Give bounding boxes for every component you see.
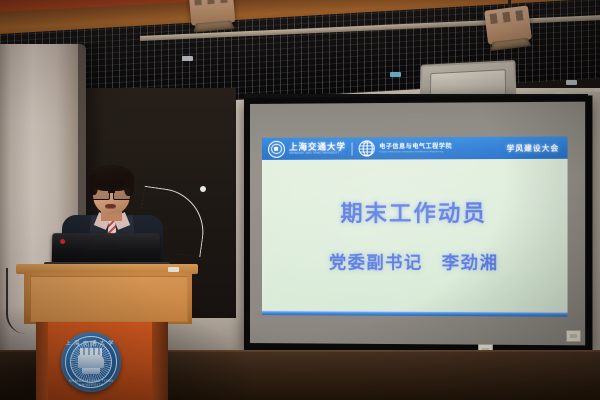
ceiling-speaker-left bbox=[189, 0, 236, 26]
lecture-hall-photo: 上海交通大学 SHANGHAI JIAO TONG UNIVERSITY 电子信… bbox=[0, 0, 600, 400]
school-name-cn: 电子信息与电气工程学院 bbox=[379, 144, 452, 150]
slide-header-bar: 上海交通大学 SHANGHAI JIAO TONG UNIVERSITY 电子信… bbox=[262, 136, 568, 160]
slide-footer-bar bbox=[262, 311, 568, 317]
speaker-slots bbox=[194, 0, 229, 5]
school-name-en: School of Electronic Information and Ele… bbox=[379, 151, 452, 153]
podium-control-switch[interactable] bbox=[168, 267, 179, 272]
podium-front-panel bbox=[30, 276, 188, 322]
presenter-mouth bbox=[105, 204, 116, 209]
university-name-en: SHANGHAI JIAO TONG UNIVERSITY bbox=[289, 152, 346, 155]
slide-subtitle: 党委副书记 李劲湘 bbox=[262, 248, 568, 274]
screen-surface: 上海交通大学 SHANGHAI JIAO TONG UNIVERSITY 电子信… bbox=[250, 102, 585, 346]
eyeglasses-icon bbox=[91, 187, 132, 198]
wall-outlet-icon bbox=[566, 330, 581, 342]
power-cable bbox=[6, 268, 26, 334]
presentation-slide: 上海交通大学 SHANGHAI JIAO TONG UNIVERSITY 电子信… bbox=[262, 136, 568, 316]
microphone-head-icon bbox=[200, 186, 206, 192]
seal-text-en: SHANGHAI JIAO TONG UNIVERSITY bbox=[61, 379, 121, 387]
projection-screen: 上海交通大学 SHANGHAI JIAO TONG UNIVERSITY 电子信… bbox=[244, 95, 592, 352]
downlight-icon bbox=[390, 72, 401, 77]
header-divider bbox=[352, 142, 353, 155]
university-name-cn: 上海交通大学 bbox=[289, 142, 346, 151]
seal-anvil-emblem bbox=[78, 355, 104, 368]
seal-base-emblem bbox=[82, 368, 100, 374]
university-seal-icon bbox=[268, 140, 285, 157]
seal-text-cn: 上海交通大学 bbox=[61, 339, 121, 347]
university-name-block: 上海交通大学 SHANGHAI JIAO TONG UNIVERSITY bbox=[285, 142, 346, 155]
school-name-block: 电子信息与电气工程学院 School of Electronic Informa… bbox=[379, 144, 452, 153]
university-seal-podium: 上海交通大学 SHANGHAI JIAO TONG UNIVERSITY bbox=[61, 332, 121, 392]
downlight-icon bbox=[566, 80, 577, 85]
slide-title: 期末工作动员 bbox=[262, 195, 568, 228]
podium-base-right bbox=[152, 322, 168, 400]
downlight-icon bbox=[182, 56, 193, 61]
laptop-logo-icon bbox=[60, 239, 65, 244]
laptop-screen bbox=[52, 233, 161, 265]
ceiling-speaker-right bbox=[484, 5, 532, 44]
speaker-slots bbox=[490, 10, 525, 24]
event-label: 学风建设大会 bbox=[507, 142, 560, 153]
globe-icon bbox=[359, 140, 375, 156]
